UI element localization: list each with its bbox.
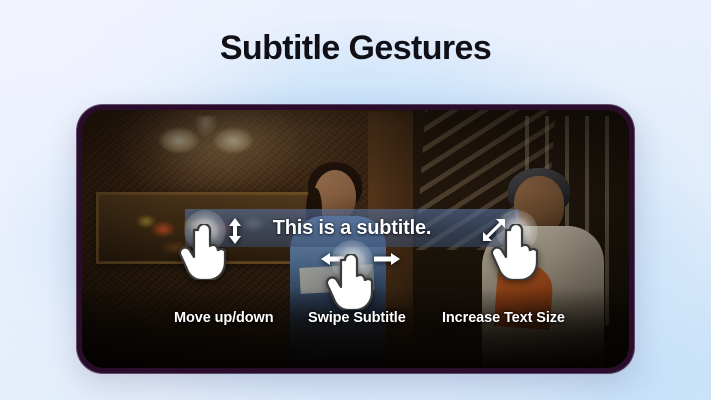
video-player-screen[interactable]: This is a subtitle. — [82, 110, 629, 368]
hand-cursor-icon — [178, 224, 226, 280]
gesture-caption-increase-text-size: Increase Text Size — [442, 310, 565, 326]
gesture-caption-swipe-subtitle: Swipe Subtitle — [308, 310, 406, 326]
hand-cursor-icon — [325, 254, 373, 310]
page-title: Subtitle Gestures — [0, 30, 711, 67]
hand-cursor-icon — [490, 224, 538, 280]
subtitle-text: This is a subtitle. — [273, 217, 431, 240]
screenshot-root: Subtitle Gestures — [0, 0, 711, 400]
hand-cursor-resize — [490, 210, 566, 286]
hand-cursor-move — [178, 210, 254, 286]
hand-cursor-swipe — [325, 240, 401, 316]
phone-device-frame: This is a subtitle. — [77, 105, 634, 373]
gesture-caption-move-up-down: Move up/down — [174, 310, 274, 326]
